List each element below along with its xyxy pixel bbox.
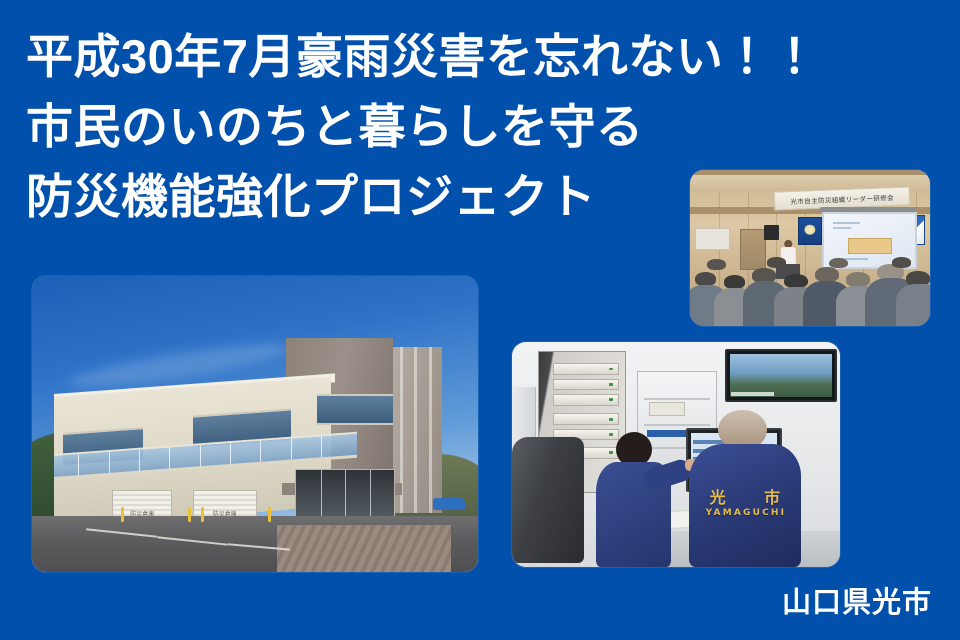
headline-line-1: 平成30年7月豪雨災害を忘れない！！ bbox=[26, 22, 716, 92]
wall-monitor-tv bbox=[725, 349, 837, 403]
operator-person-right: 光 市 YAMAGUCHI bbox=[689, 410, 801, 568]
audience-shoulder bbox=[896, 284, 930, 326]
parked-car bbox=[433, 498, 464, 510]
seminar-banner-text: 光市自主防災組織リーダー研修会 bbox=[790, 191, 894, 205]
audience-head bbox=[707, 259, 726, 270]
headline-line-2: 市民のいのちと暮らしを守る bbox=[26, 92, 716, 162]
poster-canvas: 平成30年7月豪雨災害を忘れない！！ 市民のいのちと暮らしを守る 防災機能強化プ… bbox=[0, 0, 960, 640]
bollard-4 bbox=[268, 507, 271, 522]
audience-head bbox=[815, 267, 839, 282]
photo-disaster-control-room: 光 市 YAMAGUCHI bbox=[512, 342, 840, 567]
window-band-tower bbox=[317, 394, 393, 425]
audience-head bbox=[846, 272, 870, 286]
uniform-kanji-text: 光 市 bbox=[693, 491, 797, 507]
page-title: 平成30年7月豪雨災害を忘れない！！ 市民のいのちと暮らしを守る 防災機能強化プ… bbox=[26, 22, 716, 232]
photo-municipal-building: 防災倉庫 防災倉庫 bbox=[32, 276, 478, 572]
audience-head bbox=[892, 257, 911, 267]
brick-paving bbox=[277, 525, 451, 572]
audience-head bbox=[767, 257, 786, 267]
audience-head bbox=[829, 258, 848, 268]
bollard-2 bbox=[188, 507, 191, 522]
photo-leader-training-seminar: 光市自主防災組織リーダー研修会 bbox=[690, 170, 930, 326]
uniform-back-print: 光 市 YAMAGUCHI bbox=[693, 491, 797, 521]
audience-seating bbox=[690, 257, 930, 326]
wall-whiteboard bbox=[695, 228, 731, 250]
operator-person-left bbox=[594, 432, 673, 567]
seminar-scene: 光市自主防災組織リーダー研修会 bbox=[690, 170, 930, 326]
speaker-icon bbox=[764, 225, 778, 241]
bollard-1 bbox=[121, 507, 124, 522]
building-scene: 防災倉庫 防災倉庫 bbox=[32, 276, 478, 572]
audience-head bbox=[724, 275, 746, 289]
organization-flag bbox=[798, 217, 822, 246]
headline-line-3: 防災機能強化プロジェクト bbox=[26, 162, 716, 232]
uniform-romaji-text: YAMAGUCHI bbox=[693, 507, 797, 521]
control-room-scene: 光 市 YAMAGUCHI bbox=[512, 342, 840, 567]
office-chair bbox=[512, 437, 584, 563]
hall-beam-top bbox=[690, 170, 930, 175]
flag-emblem-icon bbox=[804, 224, 815, 235]
city-credit: 山口県光市 bbox=[782, 589, 932, 618]
